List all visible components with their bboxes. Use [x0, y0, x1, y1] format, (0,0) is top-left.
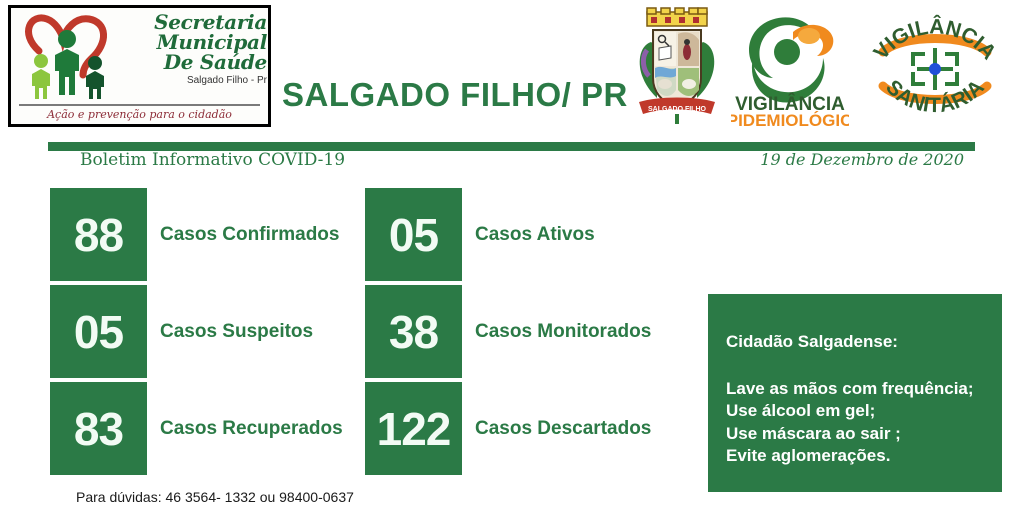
page-title: SALGADO FILHO/ PR: [282, 76, 628, 114]
stat-item: 38 Casos Monitorados: [365, 285, 462, 378]
sms-line-3: De Saúde: [129, 52, 267, 72]
ve-line-2-text: EPIDEMIOLÓGICA: [731, 111, 849, 128]
stat-item: 83 Casos Recuperados: [50, 382, 147, 475]
city-coat-of-arms-icon: SALGADO FILHO: [631, 6, 723, 128]
stat-value: 122: [377, 406, 451, 452]
secretaria-saude-logo: Secretaria Municipal De Saúde Salgado Fi…: [8, 5, 271, 127]
contact-info: Para dúvidas: 46 3564- 1332 ou 98400-063…: [76, 489, 354, 505]
stat-label: Casos Monitorados: [475, 321, 651, 343]
bulletin-label: Boletim Informativo COVID-19: [80, 150, 345, 170]
family-heart-icon: [17, 11, 129, 103]
stat-value-box: 88: [50, 188, 147, 281]
advice-item: Use álcool em gel;: [726, 400, 1002, 422]
stat-label: Casos Recuperados: [160, 418, 343, 440]
secretaria-wordmark: Secretaria Municipal De Saúde Salgado Fi…: [129, 12, 267, 100]
sms-slogan: Ação e prevenção para o cidadão: [11, 108, 268, 121]
logo-divider: [19, 104, 260, 106]
sms-location: Salgado Filho - Pr: [129, 75, 267, 86]
stat-value: 05: [74, 309, 123, 355]
advice-item: Use máscara ao sair ;: [726, 423, 1002, 445]
svg-text:SALGADO FILHO: SALGADO FILHO: [648, 106, 706, 113]
stat-value: 05: [389, 212, 438, 258]
stat-item: 05 Casos Ativos: [365, 188, 462, 281]
advice-heading: Cidadão Salgadense:: [726, 332, 1002, 352]
stat-label: Casos Suspeitos: [160, 321, 313, 343]
stat-label: Casos Ativos: [475, 224, 595, 246]
stat-value: 88: [74, 212, 123, 258]
stat-value-box: 83: [50, 382, 147, 475]
stat-value-box: 122: [365, 382, 462, 475]
vigilancia-epidemiologica-logo: VIGILÂNCIA EPIDEMIOLÓGICA: [731, 6, 849, 128]
stat-label: Casos Descartados: [475, 418, 651, 440]
advice-item: Lave as mãos com frequência;: [726, 378, 1002, 400]
stat-value: 83: [74, 406, 123, 452]
stats-column-left: 88 Casos Confirmados 05 Casos Suspeitos …: [50, 188, 147, 475]
sms-line-1: Secretaria: [129, 12, 267, 32]
bulletin-date: 19 de Dezembro de 2020: [760, 150, 964, 169]
stats-column-right: 05 Casos Ativos 38 Casos Monitorados 122…: [365, 188, 462, 475]
page-header: Secretaria Municipal De Saúde Salgado Fi…: [0, 0, 1024, 138]
stat-value-box: 05: [50, 285, 147, 378]
vigilancia-sanitaria-logo: VIGILÂNCIA SANITÁRIA: [857, 4, 1012, 130]
sms-line-2: Municipal: [129, 32, 267, 52]
stat-item: 05 Casos Suspeitos: [50, 285, 147, 378]
stat-value-box: 05: [365, 188, 462, 281]
stat-label: Casos Confirmados: [160, 224, 339, 246]
stat-value: 38: [389, 309, 438, 355]
advice-item: Evite aglomerações.: [726, 445, 1002, 467]
stat-item: 88 Casos Confirmados: [50, 188, 147, 281]
stat-value-box: 38: [365, 285, 462, 378]
stat-item: 122 Casos Descartados: [365, 382, 462, 475]
prevention-advice-panel: Cidadão Salgadense: Lave as mãos com fre…: [708, 294, 1002, 492]
